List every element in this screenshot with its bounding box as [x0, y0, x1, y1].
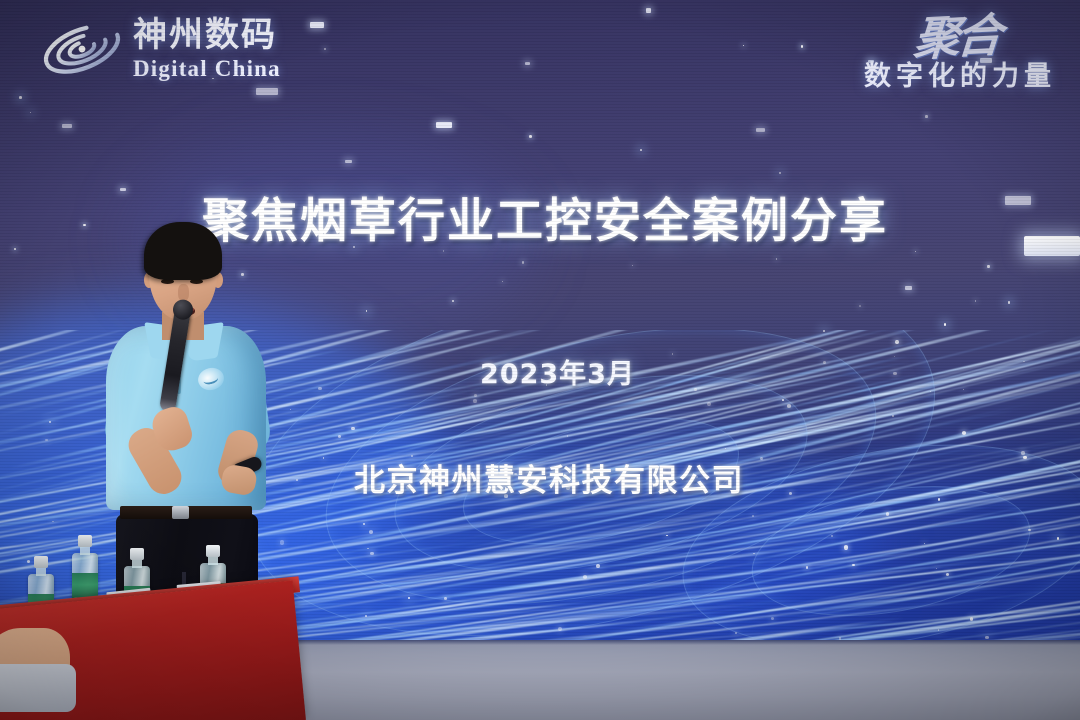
- light-particle: [52, 521, 54, 523]
- light-particle: [529, 135, 532, 138]
- screen-pixel-speck: [256, 88, 278, 95]
- light-particle: [666, 535, 668, 537]
- light-particle: [408, 597, 410, 599]
- digital-china-logo: 神州数码 Digital China: [40, 18, 281, 80]
- light-particle: [49, 421, 51, 423]
- light-particle: [1008, 301, 1010, 303]
- bottle-cap: [78, 535, 92, 547]
- light-particle: [502, 281, 503, 282]
- light-particle: [801, 45, 803, 47]
- light-particle: [944, 323, 946, 325]
- speaker-hair: [144, 222, 222, 280]
- spiral-galaxy-icon: [40, 18, 124, 80]
- light-particle: [831, 535, 833, 537]
- light-particle: [444, 597, 447, 600]
- seated-attendee: [0, 628, 70, 698]
- light-particle: [936, 568, 937, 569]
- stage-photo: 神州数码 Digital China 聚合 数字化的力量 聚焦烟草行业工控安全案…: [0, 0, 1080, 720]
- light-particle: [946, 573, 949, 576]
- light-particle: [895, 340, 899, 344]
- speaker-belt-buckle: [172, 506, 189, 519]
- light-particle: [366, 310, 368, 312]
- screen-pixel-speck: [905, 286, 912, 290]
- brand-name-en: Digital China: [133, 57, 281, 80]
- light-particle: [596, 564, 600, 568]
- light-particle: [859, 305, 861, 307]
- light-particle: [806, 566, 809, 569]
- light-particle: [632, 265, 633, 266]
- light-particle: [787, 404, 791, 408]
- light-particle: [452, 300, 454, 302]
- light-particle: [1057, 537, 1059, 539]
- light-particle: [782, 399, 784, 401]
- light-particle: [583, 575, 587, 579]
- light-particle: [567, 435, 568, 436]
- light-particle: [752, 515, 754, 517]
- speaker-nose: [178, 284, 189, 301]
- screen-pixel-speck: [646, 8, 651, 13]
- light-particle: [367, 548, 369, 550]
- light-particle: [735, 632, 736, 633]
- light-particle: [962, 431, 966, 435]
- light-particle: [930, 391, 931, 392]
- light-particle: [474, 394, 477, 397]
- light-particle: [351, 427, 355, 431]
- light-particle: [338, 435, 341, 438]
- light-particle: [45, 439, 47, 441]
- light-particle: [886, 512, 890, 516]
- light-particle: [558, 627, 562, 631]
- light-particle: [743, 45, 744, 46]
- event-brush-text: 聚合: [912, 14, 999, 61]
- screen-pixel-speck: [525, 62, 530, 65]
- light-particle: [925, 115, 928, 118]
- screen-pixel-speck: [345, 160, 352, 163]
- light-particle: [779, 172, 782, 175]
- light-particle: [844, 545, 848, 549]
- light-particle: [985, 636, 988, 639]
- screen-pixel-speck: [310, 22, 324, 28]
- bottle-cap: [130, 548, 144, 560]
- light-particle: [725, 448, 726, 449]
- light-particle: [290, 409, 291, 410]
- light-particle: [776, 258, 778, 260]
- light-particle: [771, 617, 774, 620]
- light-particle: [30, 112, 31, 113]
- event-logo: 聚合 数字化的力量: [864, 16, 1056, 93]
- light-particle: [852, 564, 854, 566]
- light-particle: [753, 553, 754, 554]
- light-particle: [924, 543, 925, 544]
- light-particle: [363, 523, 365, 525]
- light-particle: [892, 415, 894, 417]
- screen-pixel-speck: [62, 124, 72, 128]
- bottle-cap: [206, 545, 220, 557]
- light-particle: [987, 265, 989, 267]
- light-particle: [640, 149, 642, 151]
- speaker-figure: [86, 222, 286, 642]
- light-particle: [707, 402, 711, 406]
- light-particle: [522, 261, 524, 263]
- light-particle: [823, 330, 825, 332]
- bottle-cap: [34, 556, 48, 568]
- light-particle: [473, 399, 477, 403]
- light-particle: [324, 48, 326, 50]
- brand-name-cn: 神州数码: [133, 18, 281, 52]
- screen-pixel-speck: [756, 128, 765, 132]
- light-particle: [369, 530, 373, 534]
- light-particle: [370, 552, 374, 556]
- screen-pixel-speck: [436, 122, 452, 128]
- light-particle: [975, 300, 977, 302]
- light-particle: [19, 96, 22, 99]
- light-particle: [1028, 529, 1031, 532]
- light-particle: [938, 629, 939, 630]
- light-particle: [970, 617, 973, 620]
- light-particle: [365, 615, 367, 617]
